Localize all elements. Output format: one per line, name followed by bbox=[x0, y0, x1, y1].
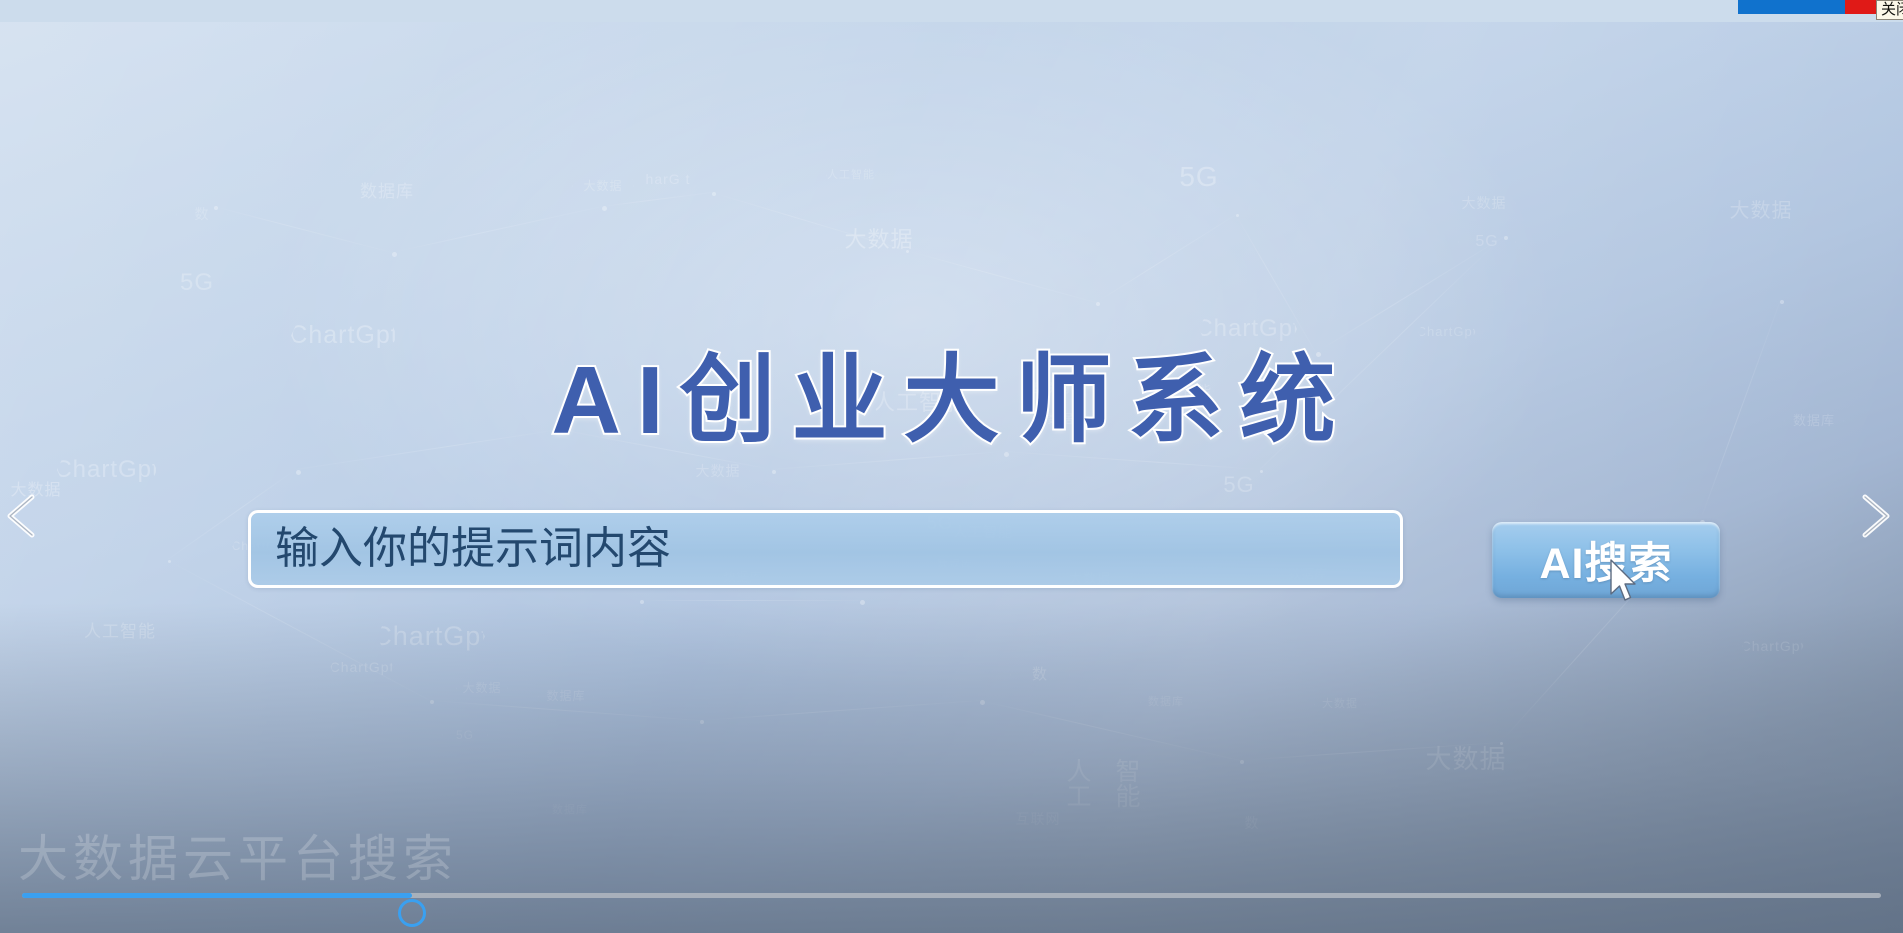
player-progress-bar bbox=[0, 873, 1903, 933]
background-hex: ChartGpt bbox=[330, 632, 394, 702]
background-hex: 数 bbox=[1010, 642, 1070, 708]
background-hex: 数据库 bbox=[340, 140, 434, 243]
background-hex: 数 bbox=[1222, 790, 1282, 856]
background-connector-line bbox=[906, 250, 1096, 303]
background-hex: 5G bbox=[1458, 210, 1516, 274]
background-hex: 大数据 bbox=[830, 186, 928, 294]
background-hex: 大数据 bbox=[1412, 700, 1520, 819]
background-hex: 数据库 bbox=[538, 666, 594, 727]
background-hex: 大数据 bbox=[572, 152, 634, 220]
background-hex: 大数据 bbox=[1314, 676, 1366, 733]
background-hex: 互联网 bbox=[1006, 784, 1070, 854]
background-node bbox=[296, 470, 301, 475]
background-node bbox=[1504, 236, 1508, 240]
background-hex: 人工智能 bbox=[1054, 730, 1154, 840]
background-node bbox=[712, 192, 716, 196]
background-hex: 5G bbox=[158, 240, 236, 326]
background-hex: 大数据 bbox=[1722, 168, 1800, 254]
background-connector-line bbox=[700, 700, 980, 721]
background-hex: 5G bbox=[1154, 128, 1244, 227]
close-red-segment[interactable] bbox=[1845, 0, 1876, 14]
background-node bbox=[772, 470, 776, 474]
background-hex: ChartGpt bbox=[1742, 612, 1804, 680]
background-hex: 5G bbox=[442, 710, 488, 760]
background-hex: 大数据 bbox=[456, 660, 508, 717]
background-node bbox=[392, 252, 397, 257]
background-connector-line bbox=[392, 206, 602, 253]
background-hex: 数据库 bbox=[1140, 674, 1192, 731]
background-connector-line bbox=[430, 700, 700, 721]
background-connector-line bbox=[1240, 742, 1500, 761]
progress-fill bbox=[22, 893, 412, 898]
background-node bbox=[1236, 214, 1239, 217]
search-row: AI搜索 bbox=[0, 510, 1903, 592]
background-connector-line bbox=[214, 206, 392, 253]
progress-thumb[interactable] bbox=[398, 899, 426, 927]
background-node bbox=[700, 720, 704, 724]
search-input[interactable] bbox=[248, 510, 1403, 588]
background-node bbox=[1096, 302, 1100, 306]
background-node bbox=[1240, 760, 1244, 764]
progress-track[interactable] bbox=[22, 893, 1881, 898]
background-hex: 人工智能 bbox=[826, 148, 876, 203]
background-hex: 大数据 bbox=[1452, 168, 1516, 238]
background-hex: ChartGpt bbox=[376, 576, 486, 697]
background-node bbox=[1780, 300, 1784, 304]
background-node bbox=[1500, 742, 1503, 745]
background-node bbox=[980, 700, 985, 705]
background-hex: harG t bbox=[632, 140, 704, 219]
window-top-strip: 关闭 bbox=[0, 0, 1903, 22]
background-hex: 数据库 bbox=[546, 784, 594, 837]
close-tooltip: 关闭 bbox=[1876, 0, 1903, 20]
background-hex: 人工智能 bbox=[80, 588, 160, 676]
background-connector-line bbox=[712, 192, 906, 251]
chevron-left-icon[interactable] bbox=[0, 487, 48, 545]
background-sheen bbox=[0, 0, 1903, 933]
background-node bbox=[860, 600, 865, 605]
background-node bbox=[1260, 470, 1263, 473]
background-node bbox=[602, 206, 607, 211]
background-node bbox=[214, 206, 218, 210]
hex-network-background: 数据库大数据ChartGpt数5GChartGpt大数据ChartGpt人工智能… bbox=[0, 0, 1903, 933]
ai-search-button[interactable]: AI搜索 bbox=[1492, 522, 1720, 598]
ai-startup-master-page: 数据库大数据ChartGpt数5GChartGpt大数据ChartGpt人工智能… bbox=[0, 0, 1903, 933]
background-node bbox=[430, 700, 434, 704]
chevron-right-icon[interactable] bbox=[1849, 487, 1901, 545]
background-connector-line bbox=[602, 192, 712, 207]
background-node bbox=[906, 250, 909, 253]
background-connector-line bbox=[980, 700, 1240, 761]
background-hex: 数 bbox=[176, 186, 228, 243]
background-connector-line bbox=[1096, 214, 1237, 303]
page-title: AI创业大师系统 bbox=[0, 322, 1903, 461]
background-connector-line bbox=[640, 600, 860, 601]
background-node bbox=[640, 600, 644, 604]
